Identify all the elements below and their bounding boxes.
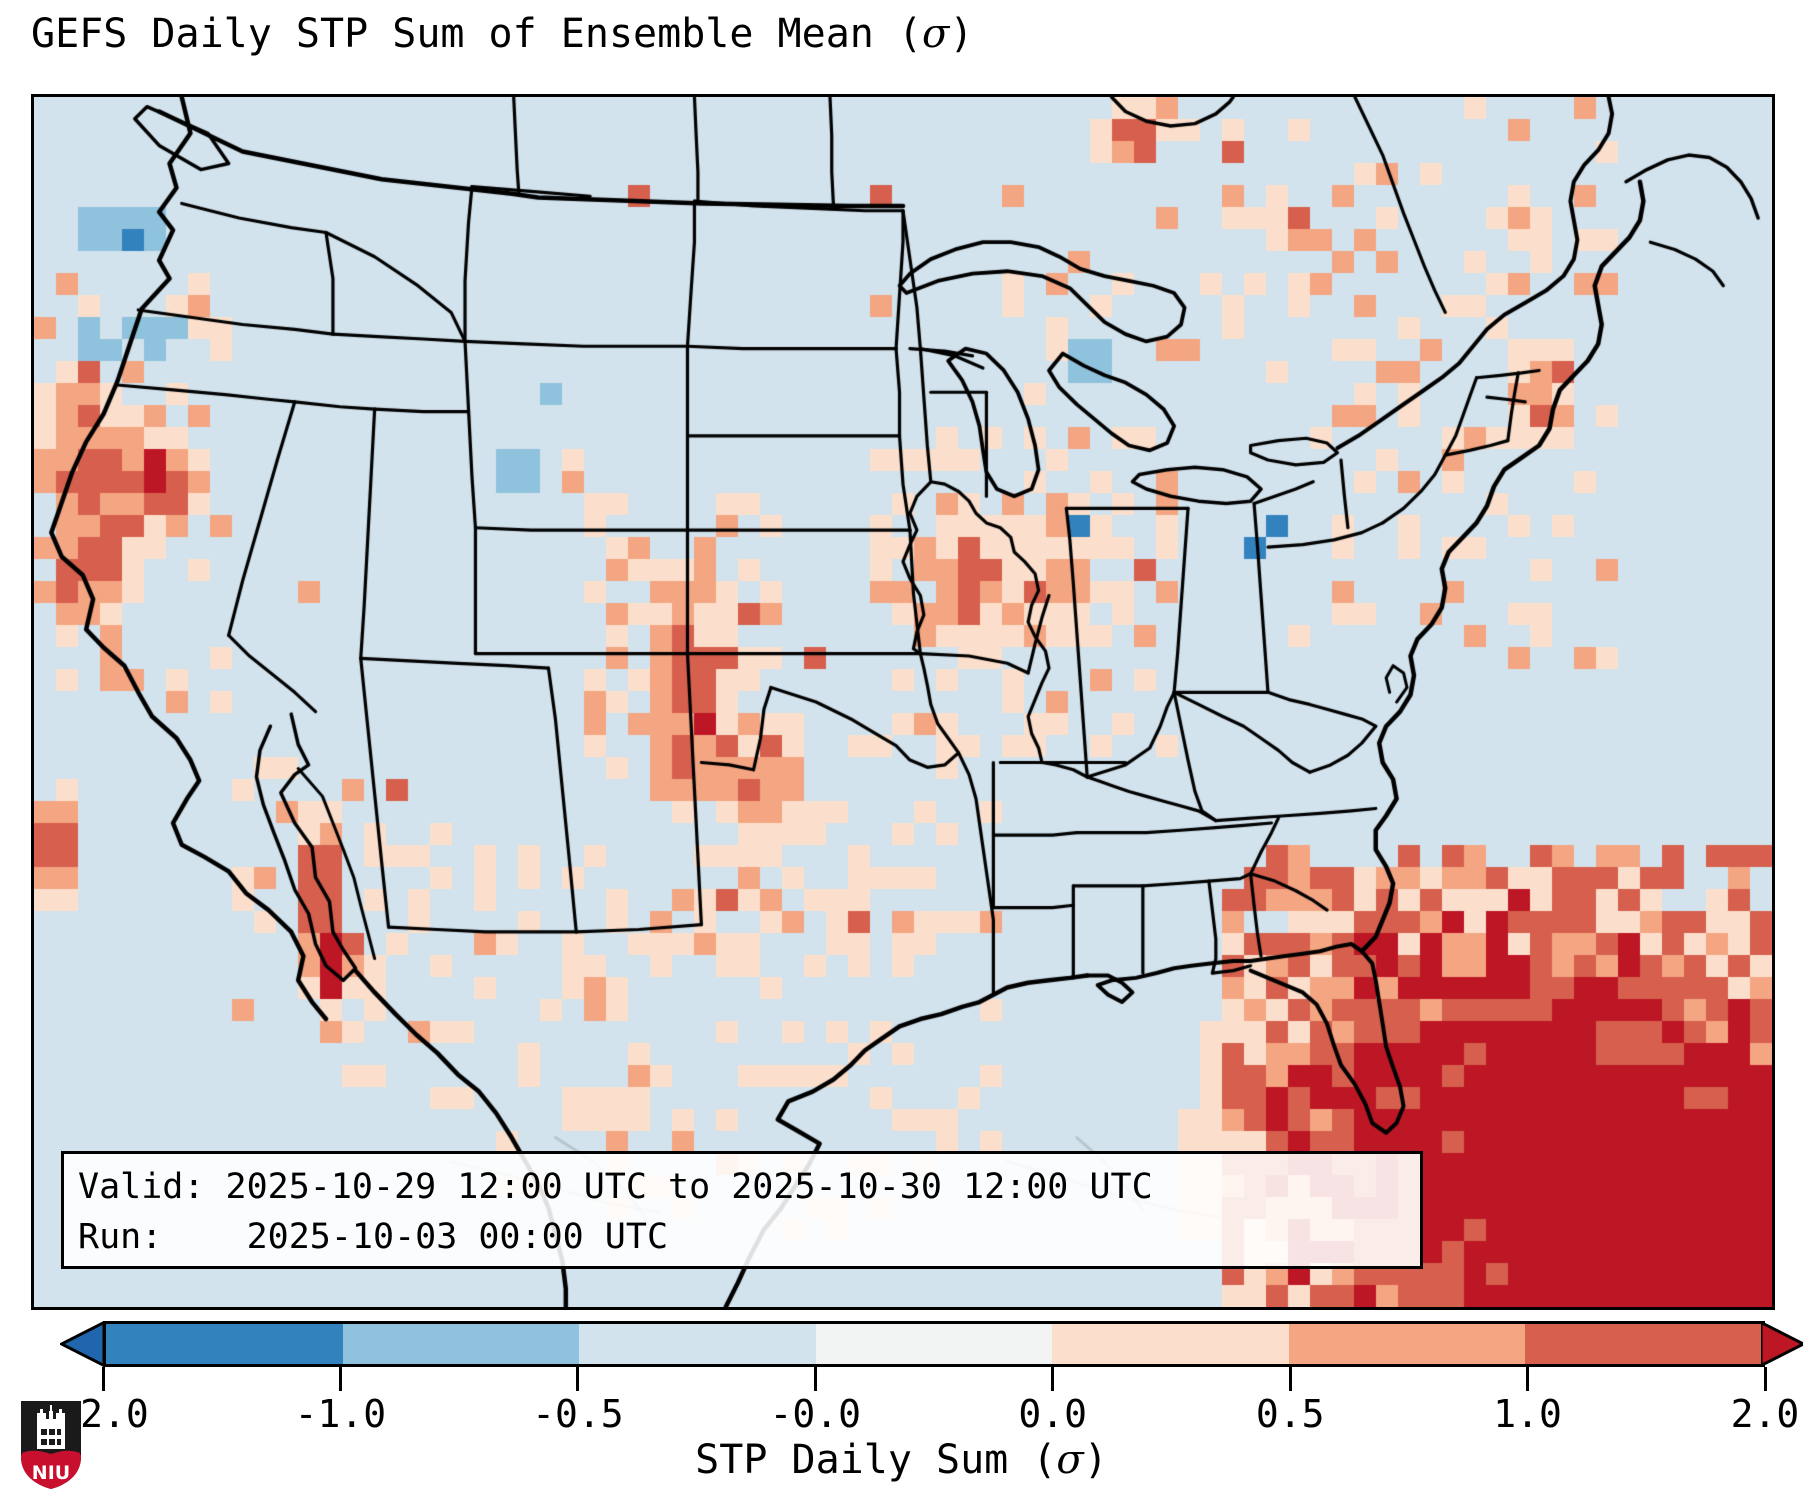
colorbar-extend-low-arrow <box>60 1321 104 1367</box>
forecast-info-box: Valid: 2025-10-29 12:00 UTC to 2025-10-3… <box>61 1151 1423 1269</box>
colorbar-extend-high-arrow <box>1761 1321 1803 1367</box>
page-title: GEFS Daily STP Sum of Ensemble Mean (σ) <box>31 14 973 54</box>
colorbar-tick-label-4: 0.0 <box>1018 1392 1087 1436</box>
colorbar-tick-0 <box>102 1367 105 1391</box>
colorbar-tick-1 <box>339 1367 342 1391</box>
colorbar-tick-2 <box>576 1367 579 1391</box>
colorbar-tick-label-7: 2.0 <box>1731 1392 1800 1436</box>
colorbar-tick-6 <box>1526 1367 1529 1391</box>
colorbar-tick-label-2: -0.5 <box>532 1392 624 1436</box>
colorbar-segments <box>103 1321 1765 1367</box>
colorbar-segment-3 <box>816 1324 1053 1364</box>
colorbar-tick-label-6: 1.0 <box>1493 1392 1562 1436</box>
valid-time-line: Valid: 2025-10-29 12:00 UTC to 2025-10-3… <box>78 1162 1406 1212</box>
page-title-paren: ) <box>949 11 973 57</box>
colorbar-tick-4 <box>1051 1367 1054 1391</box>
colorbar-segment-2 <box>579 1324 816 1364</box>
colorbar-tick-label-3: -0.0 <box>770 1392 862 1436</box>
colorbar-segment-6 <box>1525 1324 1762 1364</box>
sigma-symbol: σ <box>922 11 949 57</box>
colorbar-tick-label-1: -1.0 <box>295 1392 387 1436</box>
colorbar-tick-7 <box>1764 1367 1767 1391</box>
colorbar-segment-0 <box>106 1324 343 1364</box>
colorbar <box>31 1321 1775 1367</box>
niu-shield-logo: NIU <box>18 1399 84 1491</box>
sigma-symbol-axis: σ <box>1056 1437 1083 1483</box>
colorbar-axis-label: STP Daily Sum (σ) <box>0 1437 1803 1483</box>
page-title-text: GEFS Daily STP Sum of Ensemble Mean ( <box>31 11 922 57</box>
stp-anomaly-heatmap <box>34 97 1772 1307</box>
run-time-line: Run: 2025-10-03 00:00 UTC <box>78 1212 1406 1262</box>
map-panel[interactable]: Valid: 2025-10-29 12:00 UTC to 2025-10-3… <box>31 94 1775 1310</box>
niu-logo-text: NIU <box>32 1462 70 1484</box>
colorbar-axis-label-paren: ) <box>1084 1437 1108 1483</box>
colorbar-tick-label-5: 0.5 <box>1256 1392 1325 1436</box>
colorbar-segment-4 <box>1052 1324 1289 1364</box>
colorbar-segment-1 <box>343 1324 580 1364</box>
colorbar-axis-label-text: STP Daily Sum ( <box>695 1437 1056 1483</box>
colorbar-segment-5 <box>1289 1324 1526 1364</box>
colorbar-tick-3 <box>814 1367 817 1391</box>
colorbar-ticks <box>31 1367 1775 1393</box>
colorbar-tick-5 <box>1289 1367 1292 1391</box>
